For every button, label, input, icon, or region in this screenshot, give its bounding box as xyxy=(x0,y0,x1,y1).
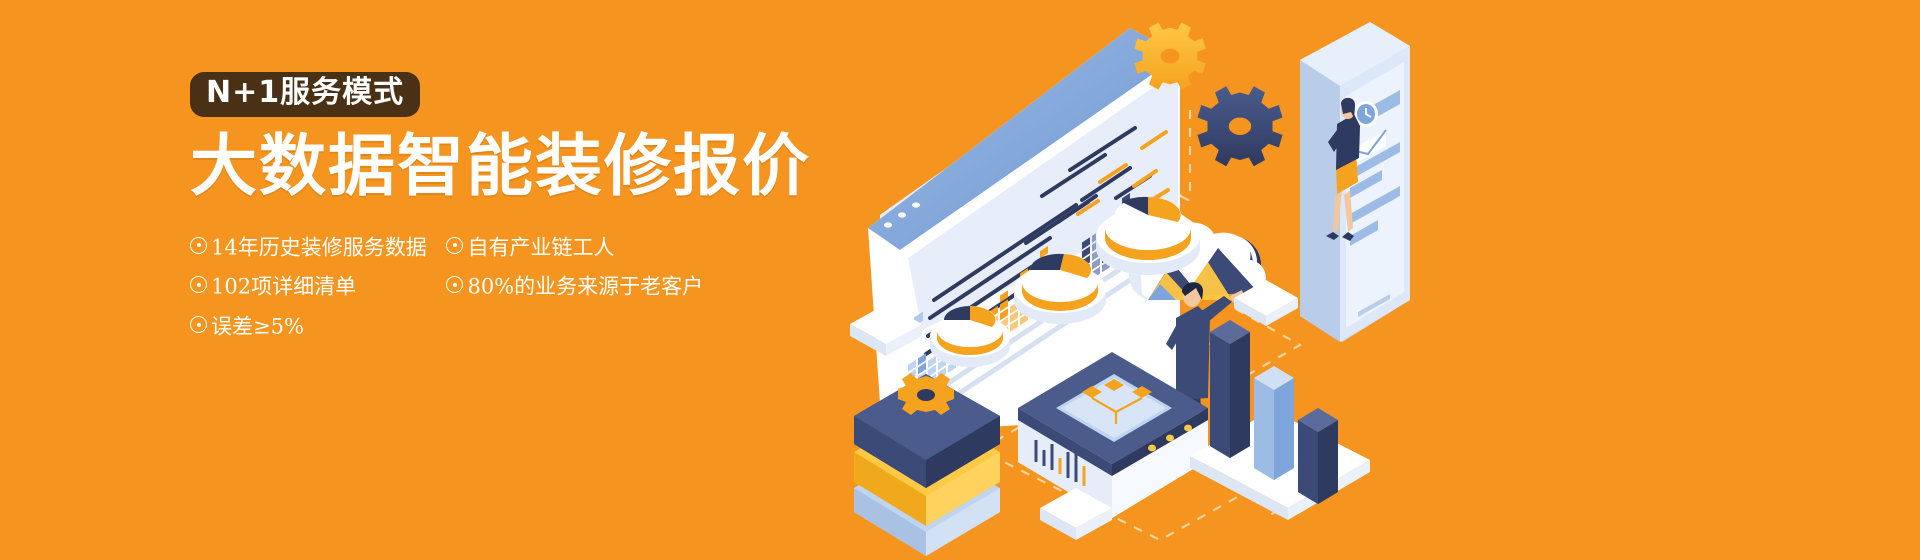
circled-dot-icon xyxy=(446,237,463,254)
banner-copy: N+1服务模式 大数据智能装修报价 14年历史装修服务数据 102项详细清单 误… xyxy=(190,72,870,346)
page-title: 大数据智能装修报价 xyxy=(190,131,870,201)
circled-dot-icon xyxy=(190,276,207,293)
list-item: 102项详细清单 xyxy=(190,266,442,306)
promo-banner: N+1服务模式 大数据智能装修报价 14年历史装修服务数据 102项详细清单 误… xyxy=(0,0,1920,560)
list-item: 自有产业链工人 xyxy=(446,227,746,267)
list-item: 80%的业务来源于老客户 xyxy=(446,266,746,306)
circled-dot-icon xyxy=(446,276,463,293)
big-data-illustration xyxy=(830,0,1450,560)
service-model-badge: N+1服务模式 xyxy=(190,72,420,117)
list-item: 14年历史装修服务数据 xyxy=(190,227,442,267)
bullet-column-left: 14年历史装修服务数据 102项详细清单 误差≥5% xyxy=(190,227,442,346)
circled-dot-icon xyxy=(190,237,207,254)
feature-bullet-list: 14年历史装修服务数据 102项详细清单 误差≥5% 自有产业链工人 80%的业… xyxy=(190,227,750,346)
bullet-column-right: 自有产业链工人 80%的业务来源于老客户 xyxy=(446,227,746,306)
bar-columns xyxy=(1190,320,1370,520)
circled-dot-icon xyxy=(190,316,207,333)
gear-navy xyxy=(1198,86,1283,166)
list-item: 误差≥5% xyxy=(190,306,442,346)
